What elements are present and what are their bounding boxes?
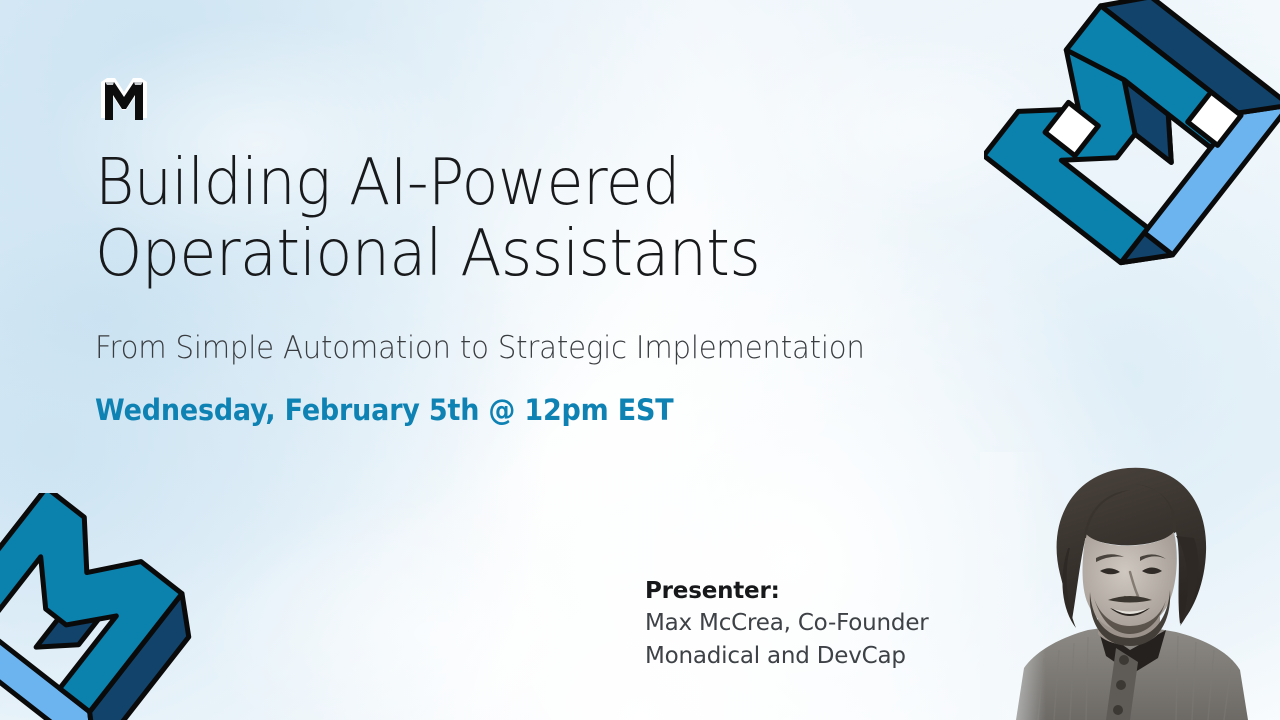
presenter-name-role: Max McCrea, Co-Founder xyxy=(645,607,929,640)
webinar-promo-slide: Building AI-Powered Operational Assistan… xyxy=(0,0,1280,720)
isometric-m-logo-top-right xyxy=(984,0,1280,336)
monadical-m-logo-icon xyxy=(95,70,153,128)
presenter-photo xyxy=(980,452,1280,720)
slide-subtitle: From Simple Automation to Strategic Impl… xyxy=(95,330,941,367)
isometric-m-logo-bottom-left xyxy=(0,493,200,720)
presenter-label: Presenter: xyxy=(645,576,929,607)
presenter-organizations: Monadical and DevCap xyxy=(645,640,929,673)
presenter-block: Presenter: Max McCrea, Co-Founder Monadi… xyxy=(645,576,929,672)
slide-content: Building AI-Powered Operational Assistan… xyxy=(95,148,995,427)
event-date: Wednesday, February 5th @ 12pm EST xyxy=(95,393,932,427)
page-title: Building AI-Powered Operational Assistan… xyxy=(95,148,941,290)
